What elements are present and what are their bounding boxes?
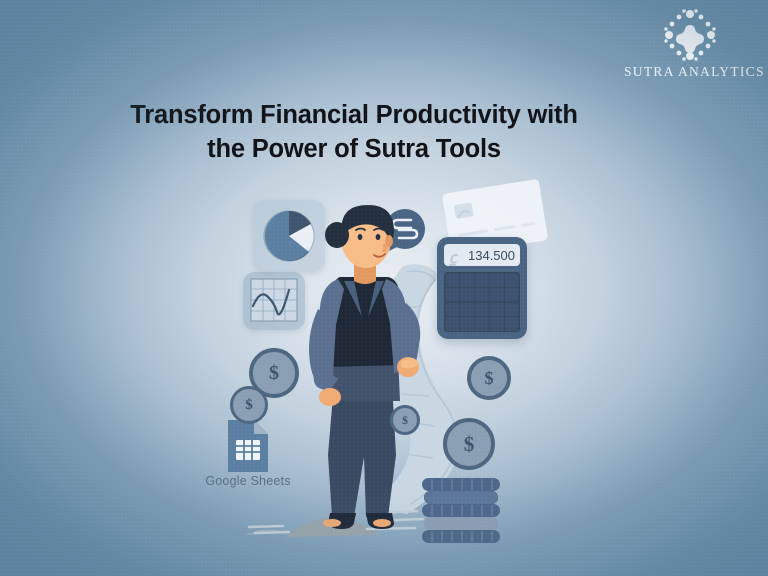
coin-symbol: $ bbox=[464, 432, 475, 457]
brand-name: SUTRA ANALYTICS bbox=[624, 64, 756, 80]
calculator[interactable]: ⃀ 134.500 bbox=[437, 237, 527, 339]
coin-stack bbox=[418, 478, 506, 550]
calculator-display: ⃀ 134.500 bbox=[444, 244, 520, 266]
calculator-key[interactable] bbox=[505, 274, 518, 287]
calculator-key[interactable] bbox=[446, 288, 459, 301]
calculator-key[interactable] bbox=[490, 303, 503, 316]
calculator-key[interactable] bbox=[446, 303, 459, 316]
page-title: Transform Financial Productivity with th… bbox=[0, 99, 768, 166]
calculator-key[interactable] bbox=[475, 288, 488, 301]
calculator-key[interactable] bbox=[490, 274, 503, 287]
calculator-key[interactable] bbox=[490, 288, 503, 301]
calculator-keypad[interactable] bbox=[444, 272, 520, 332]
calculator-key[interactable] bbox=[505, 288, 518, 301]
headline-line-2: the Power of Sutra Tools bbox=[0, 133, 708, 167]
calculator-key[interactable] bbox=[475, 274, 488, 287]
illustration-stage: ⃀ 134.500 bbox=[0, 0, 768, 576]
calculator-key[interactable] bbox=[490, 317, 503, 330]
headline-line-1: Transform Financial Productivity with bbox=[130, 101, 577, 129]
google-sheets-label: Google Sheets bbox=[196, 474, 300, 488]
coin-left-lower: $ bbox=[230, 386, 268, 424]
coin-center-small: $ bbox=[390, 405, 420, 435]
calculator-display-value: 134.500 bbox=[468, 248, 515, 263]
calculator-key[interactable] bbox=[446, 317, 459, 330]
calculator-key[interactable] bbox=[460, 274, 473, 287]
coin-right-lower: $ bbox=[443, 418, 495, 470]
calculator-key[interactable] bbox=[475, 303, 488, 316]
brand-logo-block: SUTRA ANALYTICS bbox=[624, 8, 756, 80]
calculator-key[interactable] bbox=[505, 303, 518, 316]
calculator-key[interactable] bbox=[475, 317, 488, 330]
coin-symbol: $ bbox=[269, 362, 279, 385]
calculator-key[interactable] bbox=[460, 317, 473, 330]
calculator-key[interactable] bbox=[505, 317, 518, 330]
sutra-molecule-logo-icon bbox=[663, 8, 717, 62]
coin-symbol: $ bbox=[245, 397, 253, 414]
sutra-s-icon: ⃀ bbox=[449, 246, 457, 266]
coin-symbol: $ bbox=[402, 413, 408, 428]
coin-right-upper: $ bbox=[467, 356, 511, 400]
google-sheets-icon bbox=[218, 418, 278, 474]
banner-canvas: ⃀ 134.500 bbox=[0, 0, 768, 576]
calculator-key[interactable] bbox=[446, 274, 459, 287]
calculator-key[interactable] bbox=[460, 288, 473, 301]
calculator-key[interactable] bbox=[460, 303, 473, 316]
coin-symbol: $ bbox=[485, 368, 494, 389]
